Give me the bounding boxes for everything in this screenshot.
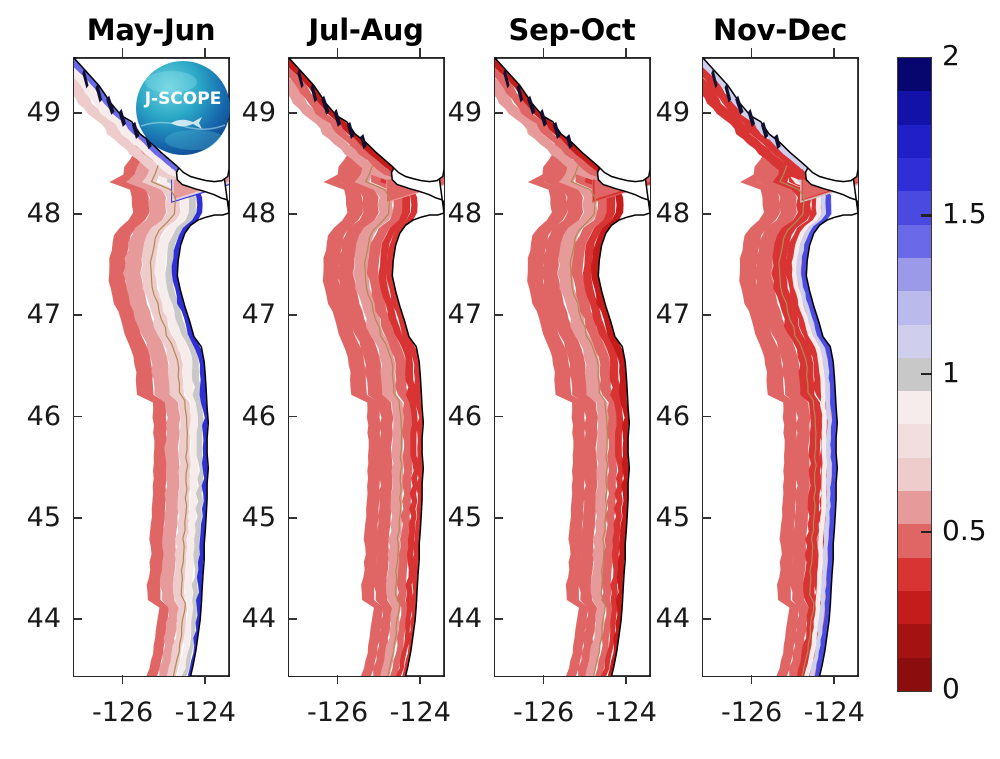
colorbar-band [898,325,931,358]
y-tick-label: 48 [226,200,276,227]
y-tick-label: 46 [226,403,276,430]
y-tick-label: 46 [432,403,482,430]
y-tick-label: 46 [640,403,690,430]
y-tick [494,314,503,316]
y-tick-label: 45 [640,504,690,531]
y-tick [702,517,711,519]
y-tick [702,213,711,215]
y-tick [288,314,297,316]
y-tick [288,517,297,519]
colorbar-band [898,558,931,591]
x-tick [625,675,627,684]
y-tick [73,314,82,316]
y-tick-label: 45 [226,504,276,531]
map-panel-jul-aug[interactable] [288,57,445,677]
y-tick-label: 45 [11,504,61,531]
map-panel-nov-dec[interactable] [702,57,859,677]
y-tick-label: 48 [640,200,690,227]
colorbar-band [898,158,931,191]
y-tick-label: 47 [432,301,482,328]
y-tick [494,112,503,114]
panel-title-1: Jul-Aug [288,16,444,45]
colorbar-tick [921,373,932,375]
y-tick-label: 44 [432,605,482,632]
j-scope-logo-text: J-SCOPE [144,89,222,109]
y-tick-label: 44 [640,605,690,632]
colorbar-band [898,658,931,691]
x-tick-label: -126 [75,699,171,726]
y-tick [288,618,297,620]
colorbar-band [898,125,931,158]
colorbar-label: 1 [942,359,960,387]
x-tick [625,48,627,57]
y-tick [288,416,297,418]
y-tick [494,213,503,215]
colorbar-band [898,391,931,424]
y-tick [73,416,82,418]
x-tick [543,675,545,684]
map-field [703,58,858,676]
y-tick [73,517,82,519]
y-tick-label: 44 [11,605,61,632]
y-tick-label: 49 [226,99,276,126]
y-tick-label: 44 [226,605,276,632]
y-tick [494,416,503,418]
colorbar-band [898,291,931,324]
colorbar-label: 0 [942,675,960,703]
x-tick-label: -124 [786,699,882,726]
x-tick-label: -126 [704,699,800,726]
y-tick-label: 49 [11,99,61,126]
map-field [495,58,650,676]
y-tick [494,517,503,519]
colorbar-band [898,624,931,657]
x-tick [543,48,545,57]
map-field [289,58,444,676]
colorbar-label: 0.5 [942,517,987,545]
x-tick-label: -126 [496,699,592,726]
y-tick-label: 49 [640,99,690,126]
y-tick [288,112,297,114]
y-tick [73,618,82,620]
colorbar-band [898,524,931,557]
colorbar-band [898,591,931,624]
map-field [74,58,229,676]
x-tick-label: -124 [157,699,253,726]
x-tick [122,675,124,684]
x-tick [419,48,421,57]
colorbar-band [898,58,931,91]
x-tick [833,48,835,57]
y-tick-label: 47 [11,301,61,328]
colorbar-band [898,458,931,491]
panel-title-2: Sep-Oct [494,16,650,45]
y-tick-label: 45 [432,504,482,531]
map-panel-sep-oct[interactable] [494,57,651,677]
colorbar-band [898,225,931,258]
colorbar-band [898,491,931,524]
x-tick [751,48,753,57]
y-tick [702,112,711,114]
y-tick-label: 48 [11,200,61,227]
x-tick-label: -126 [290,699,386,726]
x-tick [419,675,421,684]
colorbar-label: 1.5 [942,200,987,228]
y-tick-label: 48 [432,200,482,227]
y-tick [73,112,82,114]
x-tick [204,48,206,57]
colorbar-band [898,91,931,124]
y-tick [702,416,711,418]
colorbar-band [898,191,931,224]
y-tick-label: 46 [11,403,61,430]
x-tick [337,48,339,57]
colorbar-band [898,424,931,457]
x-tick [337,675,339,684]
x-tick [122,48,124,57]
y-tick [702,314,711,316]
panel-title-3: Nov-Dec [702,16,858,45]
x-tick-label: -124 [372,699,468,726]
panel-title-0: May-Jun [73,16,229,45]
x-tick [833,675,835,684]
colorbar-tick [921,531,932,533]
y-tick [288,213,297,215]
y-tick-label: 47 [226,301,276,328]
y-tick [702,618,711,620]
y-tick [494,618,503,620]
colorbar-band [898,258,931,291]
y-tick-label: 47 [640,301,690,328]
y-tick [73,213,82,215]
x-tick-label: -124 [578,699,674,726]
x-tick [204,675,206,684]
figure-root: May-Jun Jul-Aug Sep-Oct Nov-Dec J-SCOPE [0,0,1000,759]
y-tick-label: 49 [432,99,482,126]
colorbar-tick [921,214,932,216]
map-panel-may-jun[interactable] [73,57,230,677]
j-scope-logo: J-SCOPE [135,60,231,156]
x-tick [751,675,753,684]
colorbar-label: 2 [942,42,960,70]
